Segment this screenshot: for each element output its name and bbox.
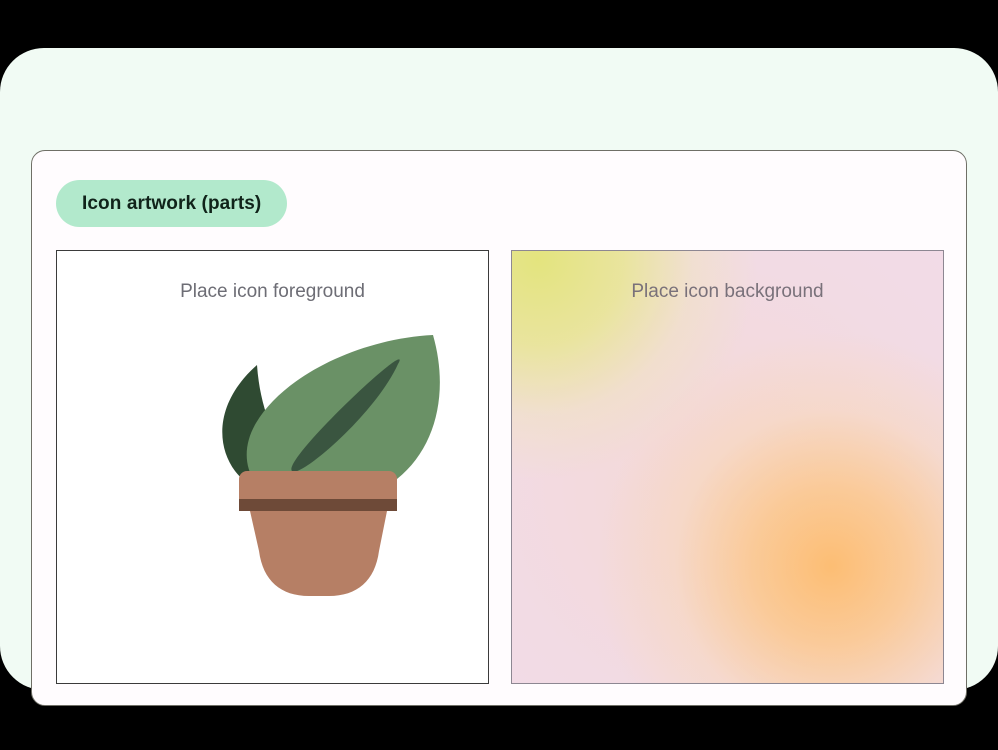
icon-background-label: Place icon background <box>512 281 943 303</box>
section-badge-label: Icon artwork (parts) <box>82 193 261 215</box>
panels-row: Place icon foreground <box>56 250 945 684</box>
icon-artwork-card: Icon artwork (parts) Place icon foregrou… <box>31 150 967 706</box>
pot-body-shape <box>250 511 387 596</box>
potted-plant-artwork <box>57 313 490 683</box>
section-badge: Icon artwork (parts) <box>56 180 287 227</box>
outer-stage: Icon artwork (parts) Place icon foregrou… <box>0 48 998 690</box>
icon-background-dropzone[interactable]: Place icon background <box>511 250 944 684</box>
icon-foreground-label: Place icon foreground <box>57 281 488 303</box>
icon-foreground-dropzone[interactable]: Place icon foreground <box>56 250 489 684</box>
pot-band-shape <box>239 499 397 511</box>
